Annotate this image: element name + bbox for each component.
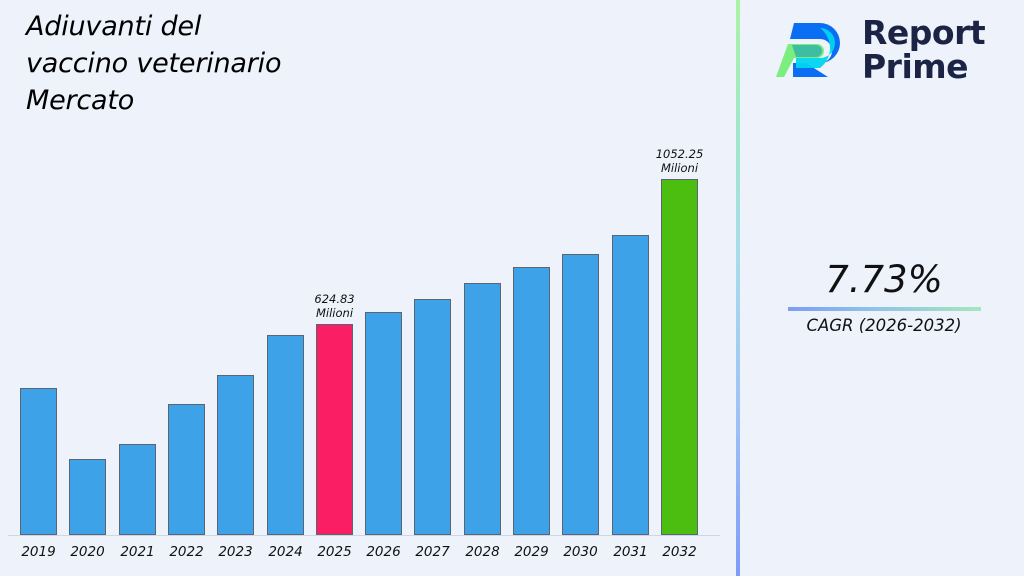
bar-chart-plot: 2019202020212022202320242025202620272028…	[0, 0, 730, 576]
bar-2026	[365, 312, 402, 535]
cagr-value: 7.73%	[762, 258, 1006, 302]
brand-panel: Report Prime 7.73% CAGR (2026-2032)	[740, 0, 1024, 576]
brand-wordmark: Report Prime	[862, 16, 985, 84]
cagr-divider	[788, 307, 981, 311]
bar-2030	[562, 254, 599, 535]
bar-2022	[168, 404, 205, 535]
report-prime-r-logo-icon	[776, 14, 848, 86]
x-axis-line	[8, 535, 720, 536]
bar-value-label-2032: 1052.25 Milioni	[632, 147, 728, 175]
bar-2025	[316, 324, 353, 535]
bar-2023	[217, 375, 254, 535]
bar-2027	[414, 299, 451, 535]
bar-2031	[612, 235, 649, 535]
bar-2024	[267, 335, 304, 535]
bar-2019	[20, 388, 57, 535]
bar-2020	[69, 459, 106, 535]
bar-2032	[661, 179, 698, 535]
cagr-block: 7.73% CAGR (2026-2032)	[762, 258, 1006, 337]
bar-2021	[119, 444, 156, 535]
bar-2029	[513, 267, 550, 535]
x-tick-2032: 2032	[649, 544, 710, 560]
bar-value-label-2025: 624.83 Milioni	[287, 292, 383, 320]
bar-2028	[464, 283, 501, 535]
brand-logo: Report Prime	[776, 14, 985, 86]
chart-infographic: Adiuvanti del vaccino veterinario Mercat…	[0, 0, 1024, 576]
cagr-caption: CAGR (2026-2032)	[762, 315, 1006, 337]
